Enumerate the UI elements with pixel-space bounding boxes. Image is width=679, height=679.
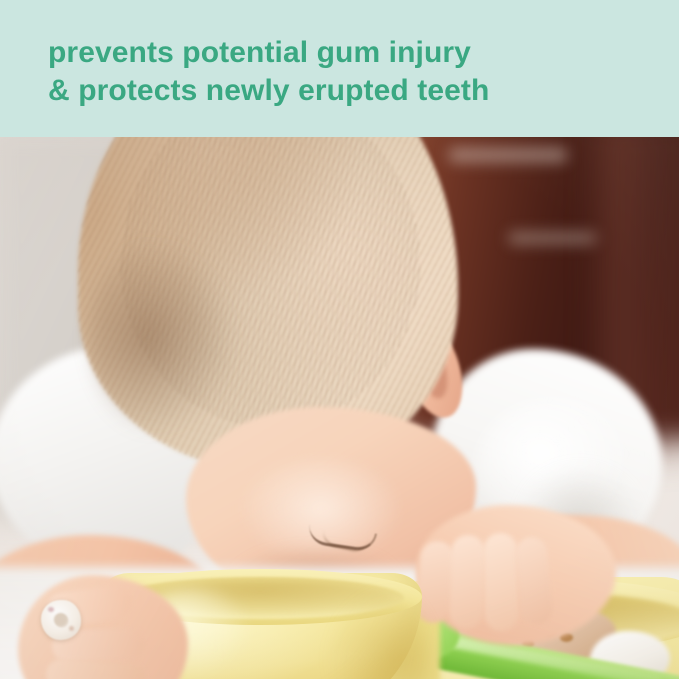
wood-highlight <box>448 147 568 163</box>
wood-highlight <box>508 231 598 245</box>
headline-line-2: & protects newly erupted teeth <box>48 72 648 110</box>
head-shadow <box>88 237 238 437</box>
headline-line-1: prevents potential gum injury <box>48 34 648 72</box>
product-feature-image: prevents potential gum injury & protects… <box>0 0 679 679</box>
headline-text: prevents potential gum injury & protects… <box>48 34 648 110</box>
cereal-fleck <box>48 607 54 612</box>
finger <box>483 533 519 632</box>
product-lifestyle-photo <box>0 137 679 679</box>
headline-banner: prevents potential gum injury & protects… <box>0 0 679 137</box>
cereal-center-hole <box>54 613 67 626</box>
cereal-fleck <box>69 626 74 631</box>
finger <box>448 534 485 629</box>
